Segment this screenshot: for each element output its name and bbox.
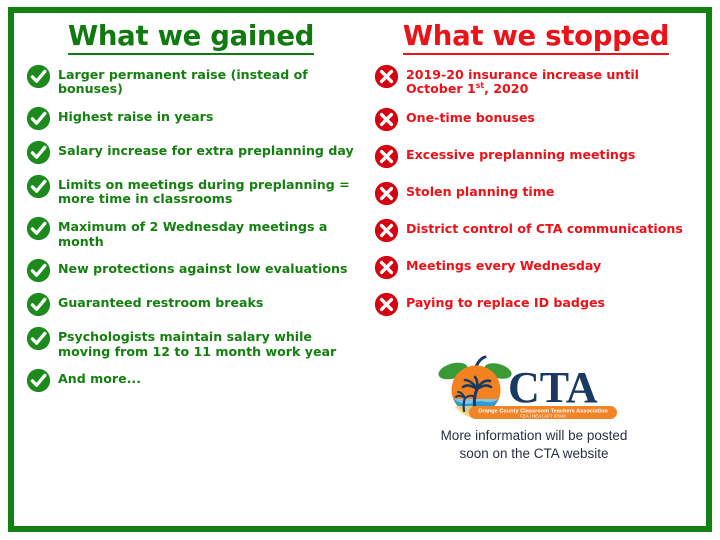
- check-circle-icon: [26, 292, 51, 317]
- heading-what-we-stopped: What we stopped: [374, 22, 698, 55]
- list-item: One-time bonuses: [374, 107, 698, 132]
- x-circle-icon: [374, 64, 399, 89]
- heading-gained-text: What we gained: [68, 22, 314, 55]
- x-circle-icon: [374, 144, 399, 169]
- two-column-layout: What we gained Larger permanent raise (i…: [14, 13, 706, 526]
- list-item: Limits on meetings during preplanning = …: [26, 174, 356, 207]
- check-circle-icon: [26, 64, 51, 89]
- check-circle-icon: [26, 326, 51, 351]
- cta-logo-graphic: Orange County Classroom Teachers Associa…: [426, 349, 641, 421]
- cta-logo: Orange County Classroom Teachers Associa…: [362, 349, 706, 421]
- list-item: District control of CTA communications: [374, 218, 698, 243]
- list-item: Salary increase for extra preplanning da…: [26, 140, 356, 165]
- list-item-label: And more...: [58, 368, 141, 387]
- list-item-label: Salary increase for extra preplanning da…: [58, 140, 354, 159]
- list-item-label: Psychologists maintain salary while movi…: [58, 326, 356, 359]
- x-circle-icon: [374, 107, 399, 132]
- list-item: And more...: [26, 368, 356, 393]
- list-item: Larger permanent raise (instead of bonus…: [26, 64, 356, 97]
- poster-root: What we gained Larger permanent raise (i…: [0, 0, 720, 540]
- list-item: Meetings every Wednesday: [374, 255, 698, 280]
- list-item-label: District control of CTA communications: [406, 218, 683, 237]
- list-item: 2019-20 insurance increase until October…: [374, 64, 698, 97]
- list-item-label: Excessive preplanning meetings: [406, 144, 635, 163]
- logo-and-caption: Orange County Classroom Teachers Associa…: [362, 349, 706, 463]
- list-item-label: Limits on meetings during preplanning = …: [58, 174, 356, 207]
- gained-list: Larger permanent raise (instead of bonus…: [26, 64, 356, 394]
- list-item: Paying to replace ID badges: [374, 292, 698, 317]
- list-item-label: One-time bonuses: [406, 107, 535, 126]
- x-circle-icon: [374, 218, 399, 243]
- list-item-label: Paying to replace ID badges: [406, 292, 605, 311]
- list-item: Guaranteed restroom breaks: [26, 292, 356, 317]
- x-circle-icon: [374, 292, 399, 317]
- list-item-label: Meetings every Wednesday: [406, 255, 601, 274]
- list-item-label: Guaranteed restroom breaks: [58, 292, 263, 311]
- heading-stopped-text: What we stopped: [403, 22, 669, 55]
- x-circle-icon: [374, 255, 399, 280]
- list-item: Maximum of 2 Wednesday meetings a month: [26, 216, 356, 249]
- ordinal-suffix: st: [476, 81, 484, 90]
- check-circle-icon: [26, 140, 51, 165]
- caption-line-1: More information will be posted: [362, 427, 706, 445]
- caption-text: More information will be posted soon on …: [362, 427, 706, 463]
- check-circle-icon: [26, 216, 51, 241]
- list-item-label: New protections against low evaluations: [58, 258, 348, 277]
- list-item: Stolen planning time: [374, 181, 698, 206]
- column-stopped: What we stopped 2019-20 insurance increa…: [362, 13, 706, 526]
- list-item-label: 2019-20 insurance increase until October…: [406, 64, 698, 97]
- logo-banner-line2: FEA | NEA | AFT #7948: [521, 414, 567, 419]
- heading-what-we-gained: What we gained: [26, 22, 356, 55]
- poster-frame: What we gained Larger permanent raise (i…: [8, 7, 712, 532]
- list-item-label: Larger permanent raise (instead of bonus…: [58, 64, 356, 97]
- list-item-label: Stolen planning time: [406, 181, 554, 200]
- x-circle-icon: [374, 181, 399, 206]
- stopped-list: 2019-20 insurance increase until October…: [374, 64, 698, 317]
- list-item-label-tail: , 2020: [484, 81, 528, 96]
- check-circle-icon: [26, 174, 51, 199]
- list-item: Psychologists maintain salary while movi…: [26, 326, 356, 359]
- list-item: Excessive preplanning meetings: [374, 144, 698, 169]
- check-circle-icon: [26, 106, 51, 131]
- check-circle-icon: [26, 258, 51, 283]
- list-item: New protections against low evaluations: [26, 258, 356, 283]
- check-circle-icon: [26, 368, 51, 393]
- list-item-label: Highest raise in years: [58, 106, 213, 125]
- list-item-label: Maximum of 2 Wednesday meetings a month: [58, 216, 356, 249]
- column-gained: What we gained Larger permanent raise (i…: [14, 13, 362, 526]
- logo-wordmark: CTA: [508, 363, 598, 412]
- list-item: Highest raise in years: [26, 106, 356, 131]
- caption-line-2: soon on the CTA website: [362, 445, 706, 463]
